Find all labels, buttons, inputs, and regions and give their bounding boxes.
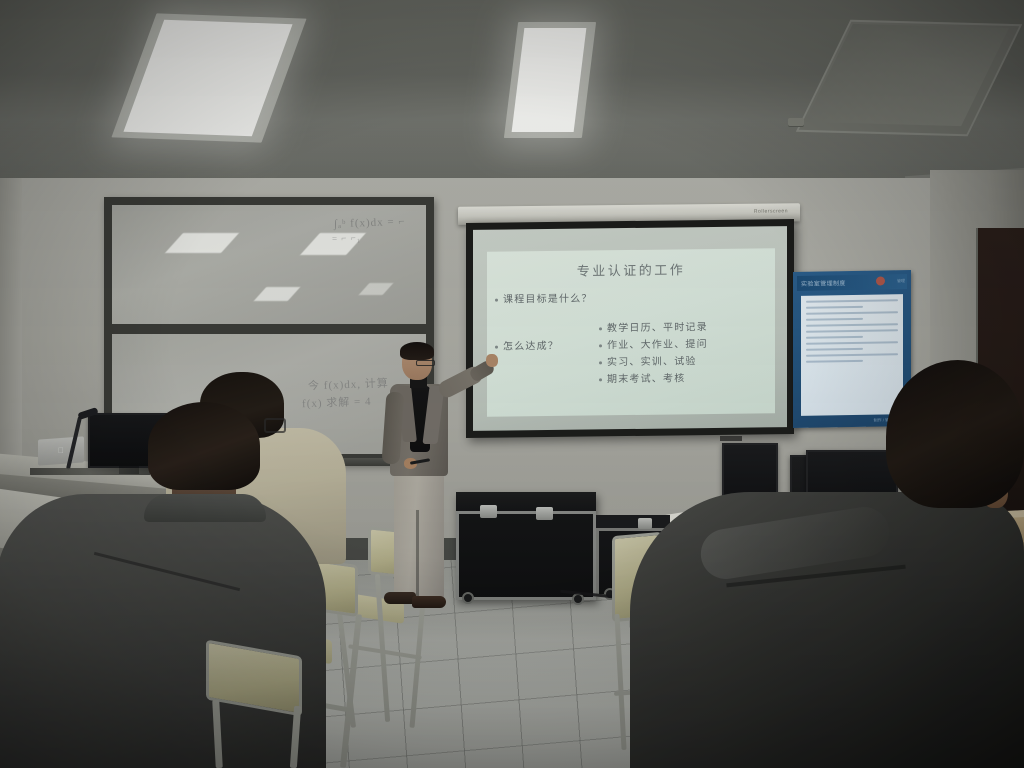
- screen-brand-logo: Rollerscreen: [754, 208, 788, 214]
- slide-bullet-right: 作业、大作业、提问: [599, 335, 708, 351]
- poster-text-line: [806, 336, 863, 339]
- ceiling-light-panel-2: [512, 28, 587, 132]
- whiteboard-note: = ⌐ ⌐₁: [332, 232, 361, 243]
- presenter-hair: [400, 342, 434, 360]
- whiteboard-glare: [165, 233, 239, 253]
- slide-bullet-left: 课程目标是什么？: [495, 289, 599, 305]
- slide-bullet-row: 教学日历、平时记录: [495, 317, 767, 335]
- poster-heading: 实验室管理制度: [801, 278, 846, 288]
- poster-badge-text: 管理: [897, 278, 905, 284]
- presenter: [366, 340, 506, 622]
- whiteboard-glare: [254, 287, 301, 301]
- slide-bullet-left-empty: [495, 361, 599, 362]
- poster-badge-icon: [876, 276, 885, 285]
- presenter-leg-seam: [416, 510, 419, 596]
- attendee-right-hair: [886, 360, 1024, 508]
- slide-title: 专业认证的工作: [495, 258, 767, 280]
- classroom-photo: ∫ₐᵇ f(x)dx = ⌐ = ⌐ ⌐₁ 今 f(x)dx, 计算 f(x) …: [0, 0, 1024, 768]
- whiteboard-note: ∫ₐᵇ f(x)dx = ⌐: [334, 216, 406, 230]
- case-latch-icon: [536, 507, 553, 520]
- slide-bullet-right: 教学日历、平时记录: [599, 318, 708, 334]
- bullet-dot-icon: [495, 299, 498, 302]
- bullet-dot-icon: [599, 379, 602, 382]
- bullet-dot-icon: [599, 328, 602, 331]
- slide-bullet-row: 怎么达成？ 作业、大作业、提问: [495, 334, 767, 352]
- poster-text-line: [806, 348, 863, 351]
- poster-header-bar: 实验室管理制度 管理: [797, 274, 907, 291]
- poster-text-line: [806, 311, 898, 315]
- whiteboard-glare: [359, 283, 394, 295]
- poster-text-line: [806, 318, 863, 321]
- slide-bullet-text: 怎么达成？: [503, 341, 559, 353]
- presenter-hand-right: [486, 354, 498, 367]
- poster-text-line: [806, 323, 898, 327]
- attendee-gray-collar: [144, 494, 266, 522]
- presenter-shoe-right: [412, 596, 446, 608]
- poster-text-line: [806, 329, 898, 333]
- poster-text-line: [806, 306, 863, 309]
- slide-bullet-left: 怎么达成？: [495, 336, 599, 352]
- whiteboard-top-panel: ∫ₐᵇ f(x)dx = ⌐ = ⌐ ⌐₁: [109, 202, 429, 327]
- attendee-gray-body: [0, 494, 326, 768]
- smoke-detector-icon: [788, 118, 804, 126]
- bullet-dot-icon: [599, 362, 602, 365]
- attendee-gray-hair: [148, 402, 260, 490]
- slide-bullet-left-empty: [495, 327, 599, 328]
- slide-bullet-text: 作业、大作业、提问: [607, 339, 708, 351]
- presenter-legs: [394, 472, 444, 598]
- poster-text-line: [806, 299, 898, 303]
- slide-bullet-text: 课程目标是什么？: [503, 293, 593, 305]
- attendee-foreground-right: [630, 360, 1024, 768]
- slide-bullet-row: 课程目标是什么？: [495, 287, 767, 305]
- presenter-glasses-icon: [416, 360, 435, 366]
- bullet-dot-icon: [599, 345, 602, 348]
- poster-text-line: [806, 353, 898, 357]
- poster-text-line: [806, 341, 898, 345]
- slide-bullet-left-empty: [495, 378, 599, 379]
- slide-bullet-text: 教学日历、平时记录: [607, 322, 708, 334]
